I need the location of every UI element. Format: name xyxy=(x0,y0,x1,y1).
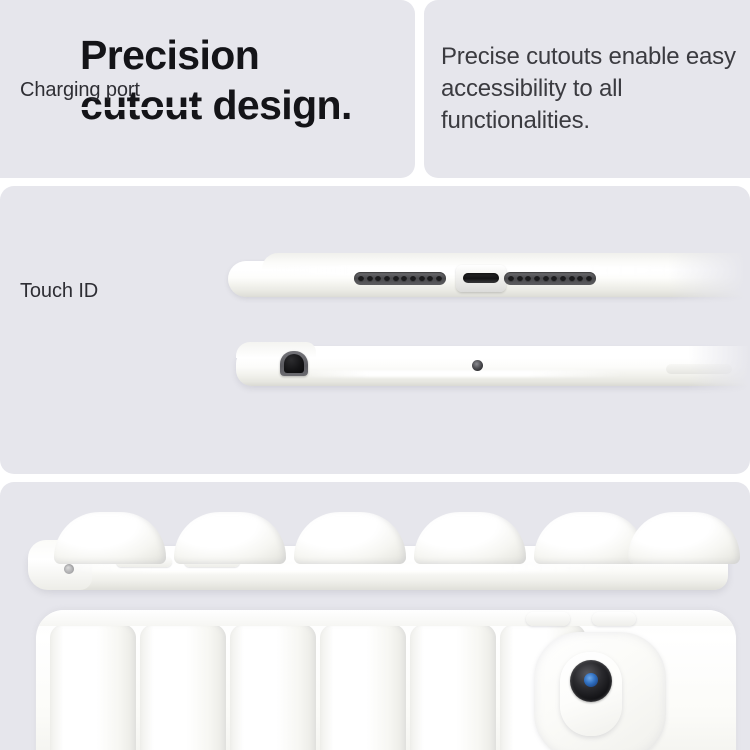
case-puff-bump xyxy=(54,512,166,564)
case-ridge xyxy=(230,624,316,750)
device-edge-fade xyxy=(688,340,750,400)
camera-lens xyxy=(570,660,612,702)
heading-line-2-rest: design. xyxy=(202,82,352,128)
product-feature-page: Precision cutout design. Precise cutouts… xyxy=(0,0,750,750)
description-panel: Precise cutouts enable easy accessibilit… xyxy=(424,0,750,178)
case-ridge xyxy=(320,624,406,750)
side-microphone-hole xyxy=(64,564,74,574)
case-ridge xyxy=(50,624,136,750)
feature-panel xyxy=(0,186,750,474)
case-ridge xyxy=(410,624,496,750)
device-gloss-highlight xyxy=(296,370,626,377)
charging-port-device-image xyxy=(228,253,750,303)
case-side-profile-image xyxy=(28,498,728,608)
case-ridge xyxy=(140,624,226,750)
case-puff-bump xyxy=(628,512,740,564)
touch-id-button-cutout xyxy=(280,351,308,376)
charging-port-label: Charging port xyxy=(20,79,140,102)
description-text: Precise cutouts enable easy accessibilit… xyxy=(441,41,741,137)
charging-port-cutout xyxy=(456,265,506,292)
case-puff-bump xyxy=(174,512,286,564)
speaker-grille-left xyxy=(354,272,446,285)
volume-button-cover-2 xyxy=(592,612,636,626)
touch-id-device-image xyxy=(236,340,750,400)
microphone-hole xyxy=(472,360,483,371)
volume-button-cover-1 xyxy=(526,612,570,626)
case-back-image xyxy=(36,610,736,750)
case-puff-bump xyxy=(294,512,406,564)
heading-line-1: Precision xyxy=(80,32,259,78)
case-puff-bump xyxy=(414,512,526,564)
speaker-grille-right xyxy=(504,272,596,285)
hero-panel xyxy=(0,482,750,750)
device-edge-fade xyxy=(668,253,750,303)
touch-id-label: Touch ID xyxy=(20,280,98,303)
